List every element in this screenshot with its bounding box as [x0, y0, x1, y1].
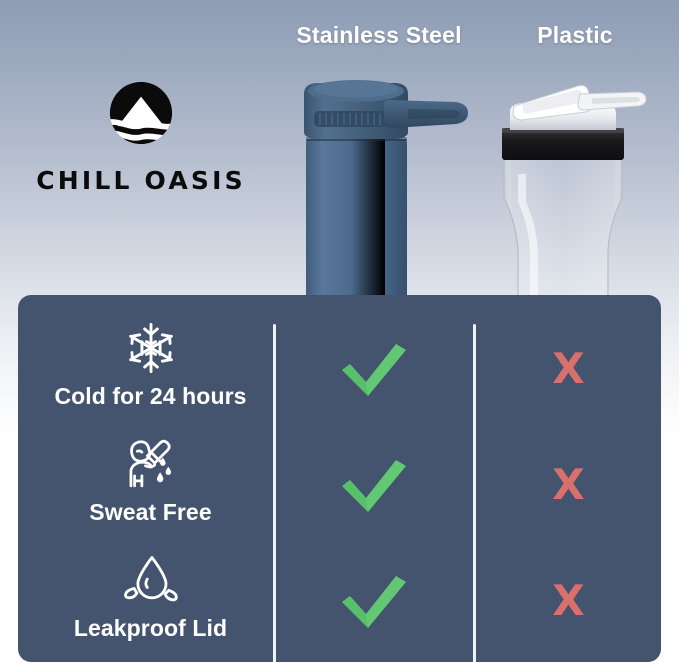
- circle-mountain-waves-logo-icon: [100, 72, 182, 154]
- snowflake-icon: [28, 317, 273, 379]
- cross-glyph: X: [552, 580, 584, 622]
- brand-wordmark: CHILL OASIS: [36, 166, 246, 195]
- plastic-bottle-image: [492, 78, 652, 306]
- steel-check-icon: [276, 437, 472, 533]
- comparison-panel: Cold for 24 hours X: [18, 295, 661, 662]
- column-header-plastic: Plastic: [460, 22, 679, 49]
- feature-cell: Sweat Free: [28, 433, 273, 526]
- stainless-steel-bottle-image: [296, 72, 476, 307]
- feature-cell: Leakproof Lid: [28, 549, 273, 642]
- feature-row: Cold for 24 hours X: [18, 317, 661, 429]
- feature-row: Sweat Free X: [18, 433, 661, 545]
- plastic-cross-icon: X: [476, 321, 661, 417]
- cross-glyph: X: [552, 464, 584, 506]
- feature-label: Sweat Free: [28, 499, 273, 526]
- feature-row: Leakproof Lid X: [18, 549, 661, 661]
- water-droplet-icon: [28, 549, 273, 611]
- person-drinking-sweat-icon: [28, 433, 273, 495]
- plastic-cross-icon: X: [476, 437, 661, 533]
- steel-check-icon: [276, 321, 472, 417]
- feature-label: Cold for 24 hours: [28, 383, 273, 410]
- steel-check-icon: [276, 553, 472, 649]
- feature-label: Leakproof Lid: [28, 615, 273, 642]
- cross-glyph: X: [552, 348, 584, 390]
- plastic-cross-icon: X: [476, 553, 661, 649]
- feature-cell: Cold for 24 hours: [28, 317, 273, 410]
- brand-logo-block: CHILL OASIS: [36, 72, 246, 195]
